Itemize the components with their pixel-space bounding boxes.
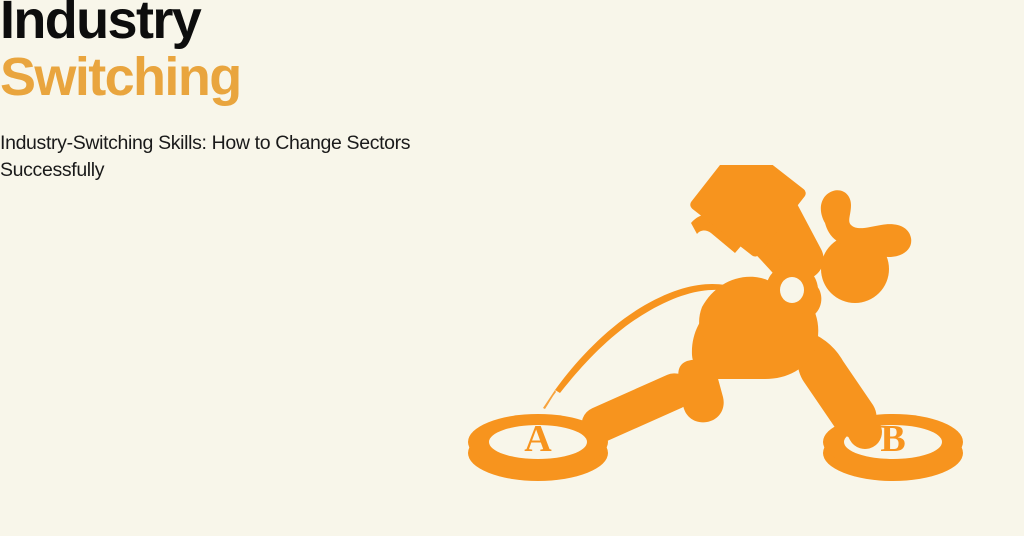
text-block: Industry Switching Industry-Switching Sk…: [0, 0, 470, 184]
leap-illustration-svg: A B: [455, 165, 975, 495]
leaping-person-figure: [576, 165, 911, 455]
platform-b-label: B: [880, 418, 905, 460]
hero-illustration: A B: [455, 165, 975, 495]
page-title: Industry Switching: [0, 0, 470, 106]
page-subtitle: Industry-Switching Skills: How to Change…: [0, 130, 440, 184]
platform-a-label: A: [524, 418, 552, 460]
page-title-line-one: Industry: [0, 0, 470, 49]
page-title-line-two: Switching: [0, 49, 470, 106]
front-leg-icon: [576, 360, 724, 449]
poster-canvas: Industry Switching Industry-Switching Sk…: [0, 0, 1024, 536]
